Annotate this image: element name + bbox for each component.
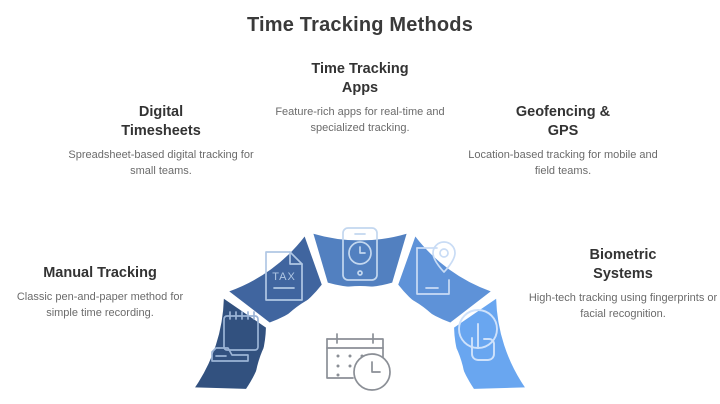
infographic-canvas: Time Tracking Methods	[0, 0, 720, 404]
label-title-biometric-systems: Biometric Systems	[528, 246, 718, 284]
label-biometric-systems[interactable]: Biometric Systems High-tech tracking usi…	[528, 246, 718, 323]
label-desc-geofencing-gps: Location-based tracking for mobile and f…	[468, 148, 658, 180]
label-geofencing-gps[interactable]: Geofencing & GPS Location-based tracking…	[468, 103, 658, 180]
label-desc-digital-timesheets: Spreadsheet-based digital tracking for s…	[68, 148, 254, 180]
label-desc-biometric-systems: High-tech tracking using fingerprints or…	[528, 291, 718, 323]
label-desc-manual-tracking: Classic pen-and-paper method for simple …	[2, 290, 198, 322]
label-title-time-tracking-apps: Time Tracking Apps	[264, 60, 456, 98]
label-title-manual-tracking: Manual Tracking	[2, 264, 198, 283]
label-time-tracking-apps[interactable]: Time Tracking Apps Feature-rich apps for…	[264, 60, 456, 137]
label-desc-time-tracking-apps: Feature-rich apps for real-time and spec…	[264, 105, 456, 137]
label-digital-timesheets[interactable]: Digital Timesheets Spreadsheet-based dig…	[68, 103, 254, 180]
label-title-digital-timesheets: Digital Timesheets	[68, 103, 254, 141]
label-title-geofencing-gps: Geofencing & GPS	[468, 103, 658, 141]
label-manual-tracking[interactable]: Manual Tracking Classic pen-and-paper me…	[2, 264, 198, 322]
svg-text:TAX: TAX	[272, 271, 296, 283]
